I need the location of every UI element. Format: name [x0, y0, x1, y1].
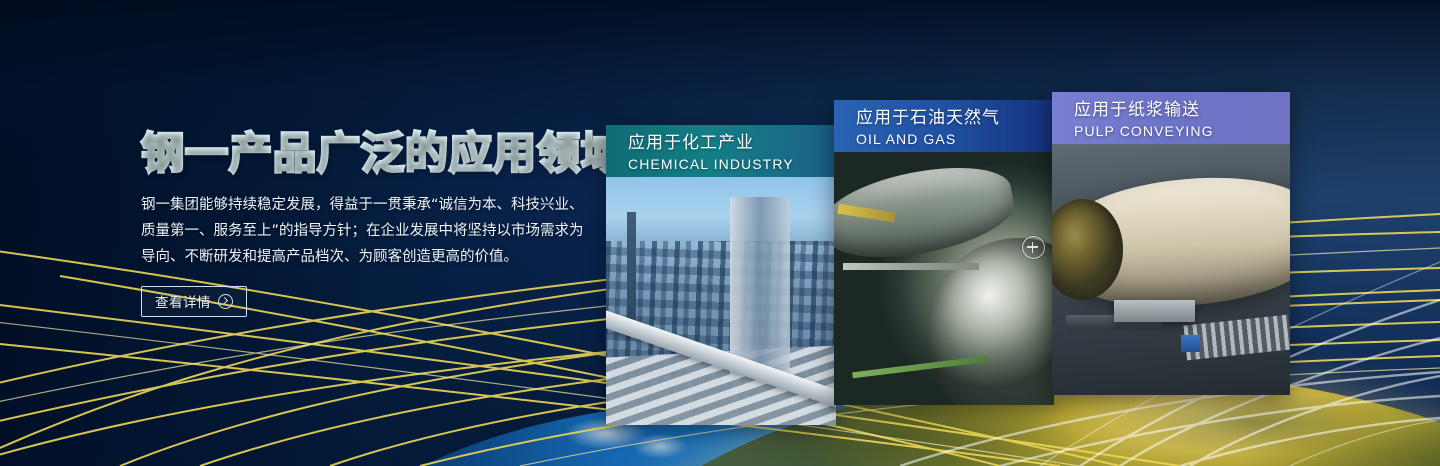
application-card-oilgas[interactable]: 应用于石油天然气 OIL AND GAS — [834, 100, 1054, 405]
tower-shape — [730, 197, 790, 376]
card-caption-chemical: 应用于化工产业 CHEMICAL INDUSTRY — [606, 125, 836, 177]
page-title: 钢一产品广泛的应用领域 — [141, 130, 611, 178]
machine-frame-shape — [1114, 300, 1195, 323]
platform-rail-shape — [843, 263, 979, 270]
plus-circle-icon[interactable] — [1022, 236, 1045, 259]
blue-valve-shape — [1181, 335, 1200, 353]
card-title-en: OIL AND GAS — [856, 130, 1054, 149]
view-details-button[interactable]: 查看详情 — [141, 286, 247, 317]
card-caption-oilgas: 应用于石油天然气 OIL AND GAS — [834, 100, 1054, 152]
banner-copy: 钢一产品广泛的应用领域 钢一集团能够持续稳定发展，得益于一贯秉承“诚信为本、科技… — [141, 130, 611, 317]
chimney-shape — [627, 212, 636, 331]
view-details-label: 查看详情 — [155, 291, 211, 311]
application-card-chemical[interactable]: 应用于化工产业 CHEMICAL INDUSTRY — [606, 125, 836, 425]
chevron-right-circle-icon — [218, 294, 233, 309]
card-image-oilgas — [834, 152, 1054, 405]
banner-description: 钢一集团能够持续稳定发展，得益于一贯秉承“诚信为本、科技兴业、质量第一、服务至上… — [141, 192, 593, 270]
hero-banner: 钢一产品广泛的应用领域 钢一集团能够持续稳定发展，得益于一贯秉承“诚信为本、科技… — [0, 0, 1440, 466]
application-card-pulp[interactable]: 应用于纸浆输送 PULP CONVEYING — [1052, 92, 1290, 395]
card-image-pulp — [1052, 144, 1290, 395]
card-caption-pulp: 应用于纸浆输送 PULP CONVEYING — [1052, 92, 1290, 144]
pulp-conveying-roller-photo — [1052, 144, 1290, 395]
card-title-en: CHEMICAL INDUSTRY — [628, 155, 836, 174]
card-title-en: PULP CONVEYING — [1074, 122, 1290, 141]
card-image-chemical — [606, 177, 836, 425]
card-title-cn: 应用于化工产业 — [628, 132, 836, 155]
card-title-cn: 应用于石油天然气 — [856, 107, 1054, 130]
card-title-cn: 应用于纸浆输送 — [1074, 99, 1290, 122]
